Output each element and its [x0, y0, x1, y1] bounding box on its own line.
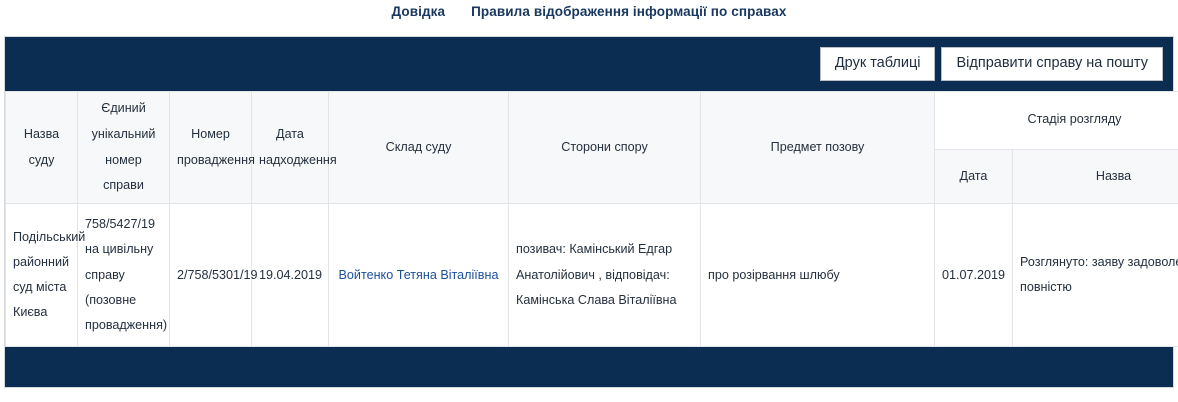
- cell-stage-name: Розглянуто: заяву задоволено повністю: [1013, 204, 1178, 347]
- column-header-receipt-date[interactable]: Дата надходження: [252, 92, 329, 204]
- column-header-stage-name[interactable]: Назва: [1013, 150, 1178, 204]
- table-row[interactable]: Подільський районний суд міста Києва 758…: [6, 204, 1178, 347]
- column-header-court-panel[interactable]: Склад суду: [329, 92, 509, 204]
- cell-claim-subject: про розірвання шлюбу: [701, 204, 935, 347]
- column-header-stage-date[interactable]: Дата: [935, 150, 1013, 204]
- column-header-parties[interactable]: Сторони спору: [509, 92, 701, 204]
- cell-receipt-date: 19.04.2019: [252, 204, 329, 347]
- column-header-unique-number[interactable]: Єдиний унікальний номер справи: [78, 92, 170, 204]
- column-header-stage-group: Стадія розгляду: [935, 92, 1178, 150]
- display-rules-link[interactable]: Правила відображення інформації по справ…: [471, 4, 786, 19]
- table-toolbar: Друк таблиці Відправити справу на пошту: [5, 37, 1173, 91]
- cell-unique-number: 758/5427/19 на цивільну справу (позовне …: [78, 204, 170, 347]
- table-footer-bar: [5, 347, 1173, 387]
- cell-court-panel: Войтенко Тетяна Віталіївна: [329, 204, 509, 347]
- cases-table-body: Подільський районний суд міста Києва 758…: [6, 204, 1178, 347]
- header-row-primary: Назва суду Єдиний унікальний номер справ…: [6, 92, 1178, 150]
- cases-table-head: Назва суду Єдиний унікальний номер справ…: [6, 92, 1178, 204]
- print-table-button[interactable]: Друк таблиці: [820, 47, 936, 81]
- send-case-to-email-button[interactable]: Відправити справу на пошту: [941, 47, 1163, 81]
- cases-table: Назва суду Єдиний унікальний номер справ…: [5, 91, 1178, 347]
- column-header-court-name[interactable]: Назва суду: [6, 92, 78, 204]
- cell-stage-date: 01.07.2019: [935, 204, 1013, 347]
- column-header-claim-subject[interactable]: Предмет позову: [701, 92, 935, 204]
- cell-proceeding-number: 2/758/5301/19: [170, 204, 252, 347]
- cell-court-name: Подільський районний суд міста Києва: [6, 204, 78, 347]
- help-link[interactable]: Довідка: [392, 4, 446, 19]
- judge-link[interactable]: Войтенко Тетяна Віталіївна: [339, 268, 499, 282]
- top-links-bar: Довідка Правила відображення інформації …: [0, 0, 1178, 21]
- cases-panel: Друк таблиці Відправити справу на пошту …: [4, 36, 1174, 388]
- cell-parties: позивач: Камінський Едгар Анатолійович ,…: [509, 204, 701, 347]
- column-header-proceeding-number[interactable]: Номер провадження: [170, 92, 252, 204]
